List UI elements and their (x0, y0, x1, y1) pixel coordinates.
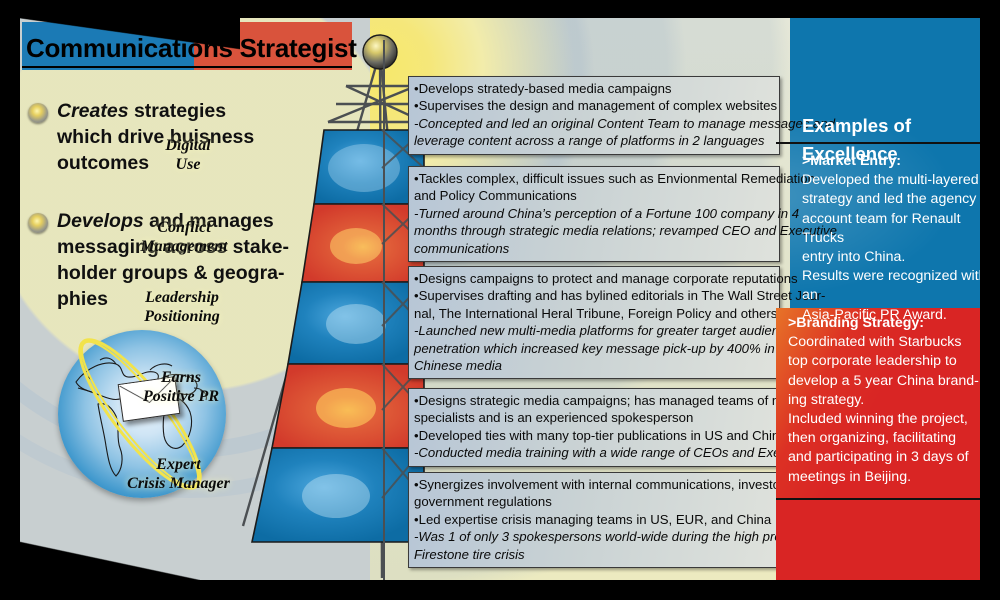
branding-strategy-heading: >Branding Strategy: (788, 314, 988, 333)
branding-strategy-line: ing strategy. (788, 391, 988, 410)
market-entry-line: Results were recognized with an (802, 267, 992, 305)
content-line: •Supervises drafting and has bylined edi… (414, 287, 774, 304)
tower-label-digital-use: DigitalUse (128, 136, 248, 174)
content-line: -Was 1 of only 3 spokespersons world-wid… (414, 528, 774, 545)
frame-left (0, 0, 20, 600)
content-box-expert-crisis-manager: •Synergizes involvement with internal co… (408, 472, 780, 568)
branding-strategy-line: meetings in Beijing. (788, 468, 988, 487)
sphere-bullet-icon (28, 103, 48, 123)
branding-strategy-line: top corporate leadership to (788, 352, 988, 371)
content-line: government regulations (414, 493, 774, 510)
infographic-canvas: Communications Strategist Creates strate… (0, 0, 1000, 600)
panel-title: Examples of Excellence (790, 112, 990, 140)
market-entry-line: account team for Renault Trucks (802, 210, 992, 248)
panel-title-rule (776, 142, 1000, 144)
content-box-digital-use: •Develops stratedy-based media campaigns… (408, 76, 780, 155)
mast-vertical-line (383, 40, 385, 580)
frame-corner-bottom-left (0, 530, 200, 600)
content-line: •Develops stratedy-based media campaigns (414, 80, 774, 97)
content-line: -Turned around China’s perception of a F… (414, 205, 774, 222)
tower-label-earns-positive-pr: EarnsPositive PR (116, 368, 246, 406)
content-line: •Designs campaigns to protect and manage… (414, 270, 774, 287)
content-line: -Conducted media training with a wide ra… (414, 444, 774, 461)
content-line: Firestone tire crisis (414, 546, 774, 563)
content-line: communications (414, 240, 774, 257)
frame-right (980, 0, 1000, 600)
content-line: •Developed ties with many top-tier publi… (414, 427, 774, 444)
branding-strategy-line: develop a 5 year China brand- (788, 372, 988, 391)
tower-label-leadership-positioning: LeadershipPositioning (112, 288, 252, 326)
bullet-creates-lead: Creates (57, 100, 129, 122)
content-line: -Concepted and led an original Content T… (414, 115, 774, 132)
content-line: •Tackles complex, difficult issues such … (414, 170, 774, 187)
sphere-bullet-icon (28, 213, 48, 233)
content-line: leverage content across a range of platf… (414, 132, 774, 149)
content-line: penetration which increased key message … (414, 340, 774, 357)
content-line: nal, The International Heral Tribune, Fo… (414, 305, 774, 322)
content-line: and Policy Communications (414, 187, 774, 204)
content-line: •Supervises the design and management of… (414, 97, 774, 114)
content-box-earns-positive-pr: •Designs strategic media campaigns; has … (408, 388, 780, 467)
branding-strategy-line: Coordinated with Starbucks (788, 333, 988, 352)
content-line: months through strategic media relations… (414, 222, 774, 239)
content-line: •Synergizes involvement with internal co… (414, 476, 774, 493)
content-line: •Designs strategic media campaigns; has … (414, 392, 774, 409)
panel-entry-branding-strategy: >Branding Strategy:Coordinated with Star… (788, 314, 988, 487)
content-box-leadership-positioning: •Designs campaigns to protect and manage… (408, 266, 780, 379)
branding-strategy-line: and participating in 3 days of (788, 448, 988, 467)
market-entry-line: strategy and led the agency (802, 190, 992, 209)
content-line: Chinese media (414, 357, 774, 374)
market-entry-line: Developed the multi-layered (802, 171, 992, 190)
market-entry-line: entry into China. (802, 248, 992, 267)
branding-strategy-line: then organizing, facilitating (788, 429, 988, 448)
content-line: specialists and is an experienced spokes… (414, 409, 774, 426)
branding-strategy-line: Included winning the project, (788, 410, 988, 429)
panel-entry-market-entry: >Market Entry:Developed the multi-layere… (802, 152, 992, 325)
tower-label-conflict-management: ConflictManagement (114, 218, 254, 256)
frame-corner-top-left (0, 0, 240, 60)
tower-label-expert-crisis-manager: ExpertCrisis Manager (106, 455, 251, 493)
panel-red-footer (776, 500, 1000, 580)
content-box-conflict-management: •Tackles complex, difficult issues such … (408, 166, 780, 262)
content-line: -Launched new multi-media platforms for … (414, 322, 774, 339)
content-line: •Led expertise crisis managing teams in … (414, 511, 774, 528)
market-entry-heading: >Market Entry: (802, 152, 992, 171)
